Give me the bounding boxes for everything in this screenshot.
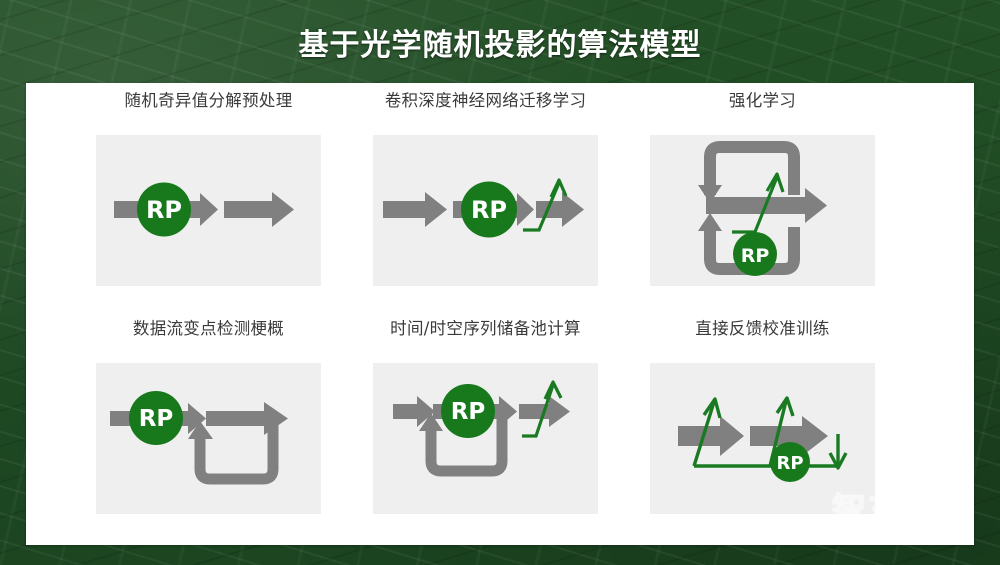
long-arrow <box>224 192 294 227</box>
feedback-loop <box>188 421 273 479</box>
diagram-reinforcement: RP <box>650 135 875 286</box>
rp-node-label: RP <box>471 196 507 224</box>
diagram-random-svd: RP <box>96 135 321 286</box>
panel-caption: 强化学习 <box>624 87 901 111</box>
panel-caption: 直接反馈校准训练 <box>624 315 901 339</box>
diagram-change-point: RP <box>96 363 321 514</box>
panel-caption: 随机奇异值分解预处理 <box>70 87 347 111</box>
panel-caption: 卷积深度神经网络迁移学习 <box>347 87 624 111</box>
diagram-reservoir: RP <box>373 363 598 514</box>
content-card: 随机奇异值分解预处理 RP 卷积深度 <box>26 83 974 545</box>
panel-reinforcement-learning[interactable]: 强化学习 <box>624 87 901 302</box>
diagram-cnn-transfer: RP <box>373 135 598 286</box>
panel-row-2: 数据流变点检测梗概 <box>26 315 974 530</box>
panel-diagram: RP <box>373 135 598 286</box>
page-title: 基于光学随机投影的算法模型 <box>0 20 1000 64</box>
rp-node-label: RP <box>776 453 803 474</box>
panel-diagram: RP <box>650 363 875 514</box>
arrow-one <box>678 416 744 456</box>
green-down-arrow <box>830 434 846 468</box>
panel-row-1: 随机奇异值分解预处理 RP 卷积深度 <box>26 87 974 302</box>
panel-diagram: RP <box>650 135 875 286</box>
long-arrow <box>383 192 447 227</box>
panel-cnn-transfer-learning[interactable]: 卷积深度神经网络迁移学习 <box>347 87 624 302</box>
upper-loop <box>698 147 794 203</box>
panel-data-stream-change-point-detection[interactable]: 数据流变点检测梗概 <box>70 315 347 530</box>
panel-caption: 时间/时空序列储备池计算 <box>347 315 624 339</box>
rp-node-label: RP <box>139 406 174 432</box>
panel-reservoir-computing[interactable]: 时间/时空序列储备池计算 <box>347 315 624 530</box>
rp-node-label: RP <box>146 196 182 224</box>
panel-caption: 数据流变点检测梗概 <box>70 315 347 339</box>
panel-diagram: RP <box>96 363 321 514</box>
rp-node-label: RP <box>741 245 770 267</box>
panel-diagram: RP <box>373 363 598 514</box>
panel-random-svd-preprocessing[interactable]: 随机奇异值分解预处理 RP <box>70 87 347 302</box>
diagram-direct-feedback: RP <box>650 363 875 514</box>
panel-diagram: RP <box>96 135 321 286</box>
panel-direct-feedback-alignment[interactable]: 直接反馈校准训练 <box>624 315 901 530</box>
rp-node-label: RP <box>451 399 486 425</box>
